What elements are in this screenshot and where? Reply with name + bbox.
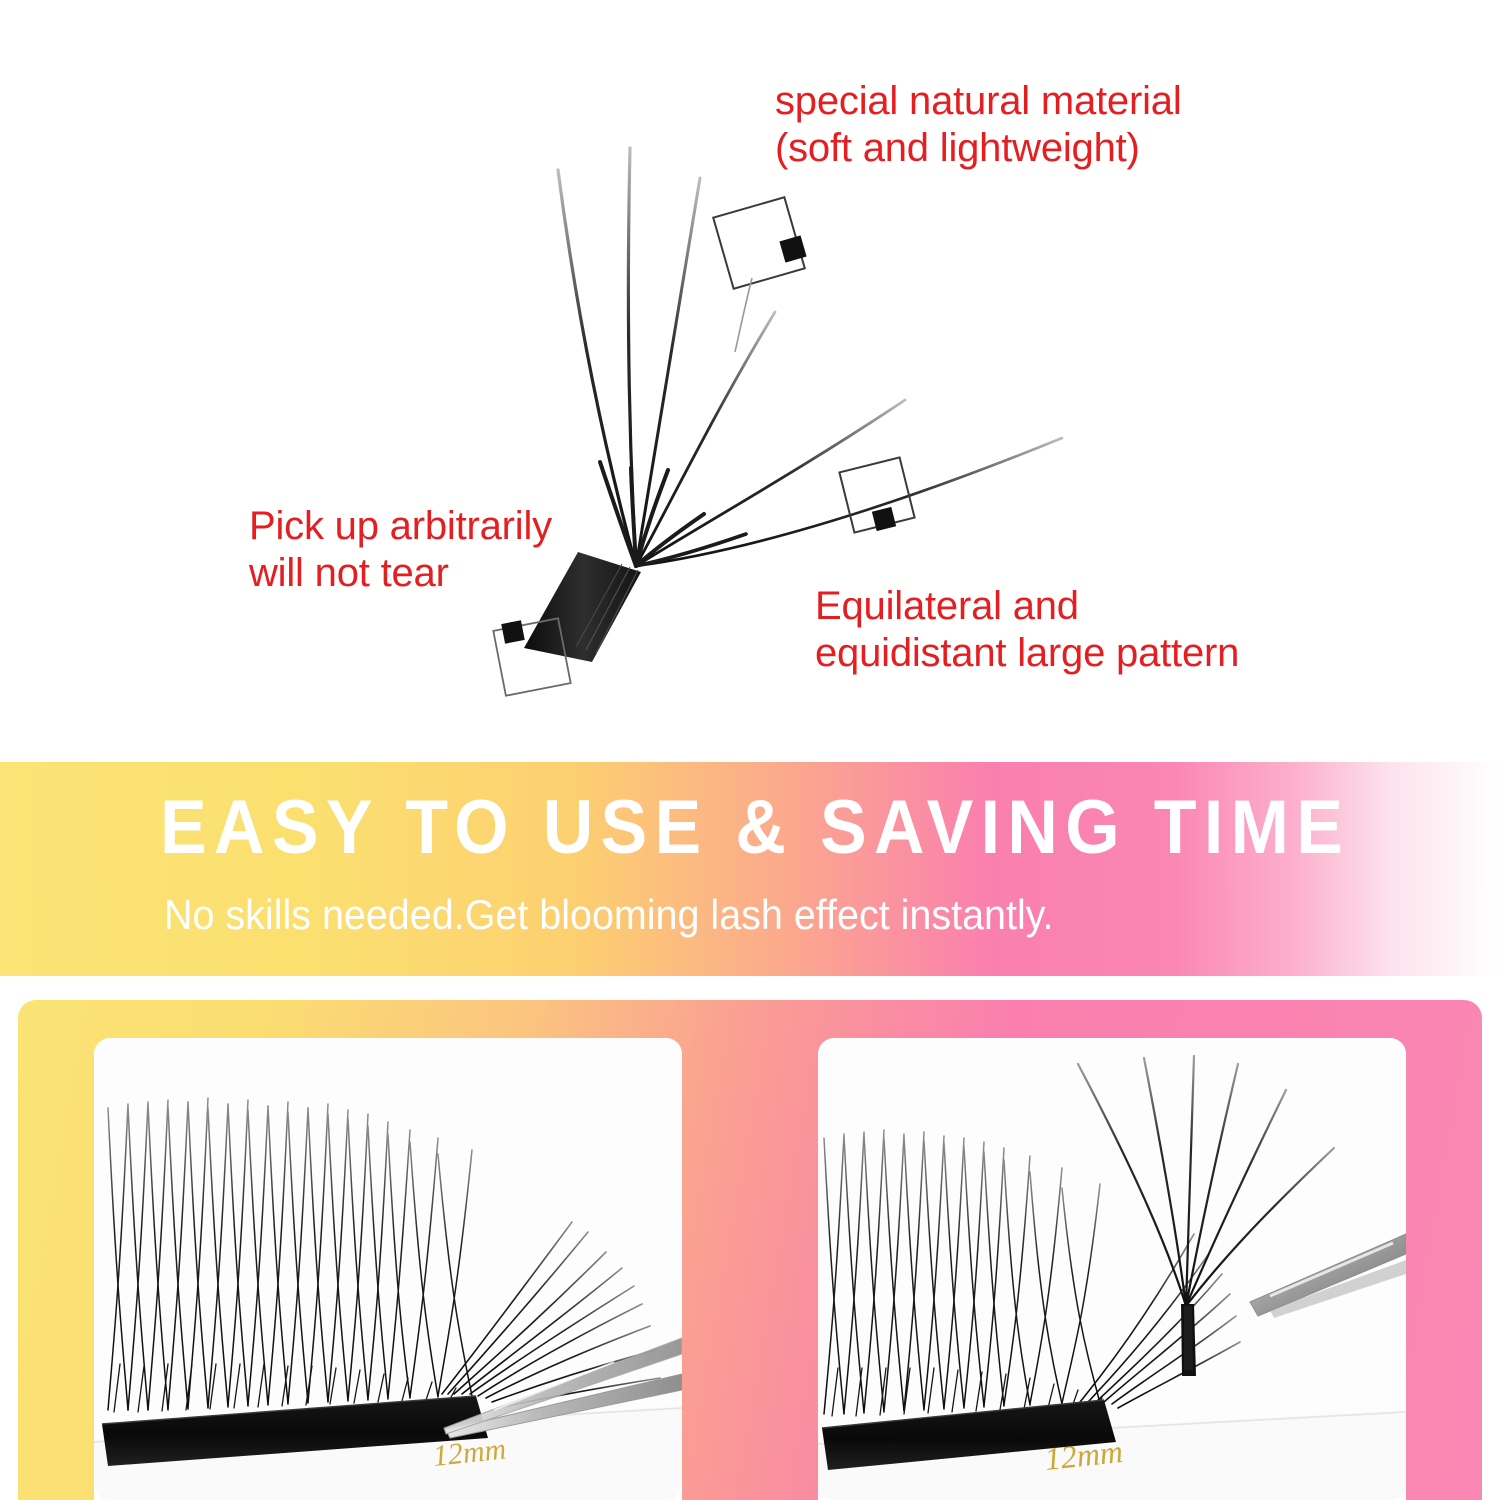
photo-card-fan-pickup: 12mm xyxy=(818,1038,1406,1500)
callout-equilateral-pattern: Equilateral and equidistant large patter… xyxy=(815,583,1239,677)
banner-title: EASY TO USE & SAVING TIME xyxy=(160,790,1350,866)
lash-tray-with-tweezers-photo: 12mm xyxy=(94,1038,682,1500)
rotated-square-marker-middle xyxy=(839,457,914,532)
photo-gallery-section: 12mm xyxy=(18,1000,1482,1500)
lash-fan-illustration xyxy=(0,0,1500,760)
hero-illustration-section: special natural material (soft and light… xyxy=(0,0,1500,760)
callout-special-natural-material: special natural material (soft and light… xyxy=(775,78,1182,172)
lash-fan-pickup-photo: 12mm xyxy=(818,1038,1406,1500)
easy-to-use-banner: EASY TO USE & SAVING TIME No skills need… xyxy=(0,762,1500,976)
banner-subtitle: No skills needed.Get blooming lash effec… xyxy=(164,894,1054,936)
rotated-square-marker-top xyxy=(713,197,806,352)
callout-pick-up-arbitrarily: Pick up arbitrarily will not tear xyxy=(249,503,552,597)
photo-card-lash-tray: 12mm xyxy=(94,1038,682,1500)
